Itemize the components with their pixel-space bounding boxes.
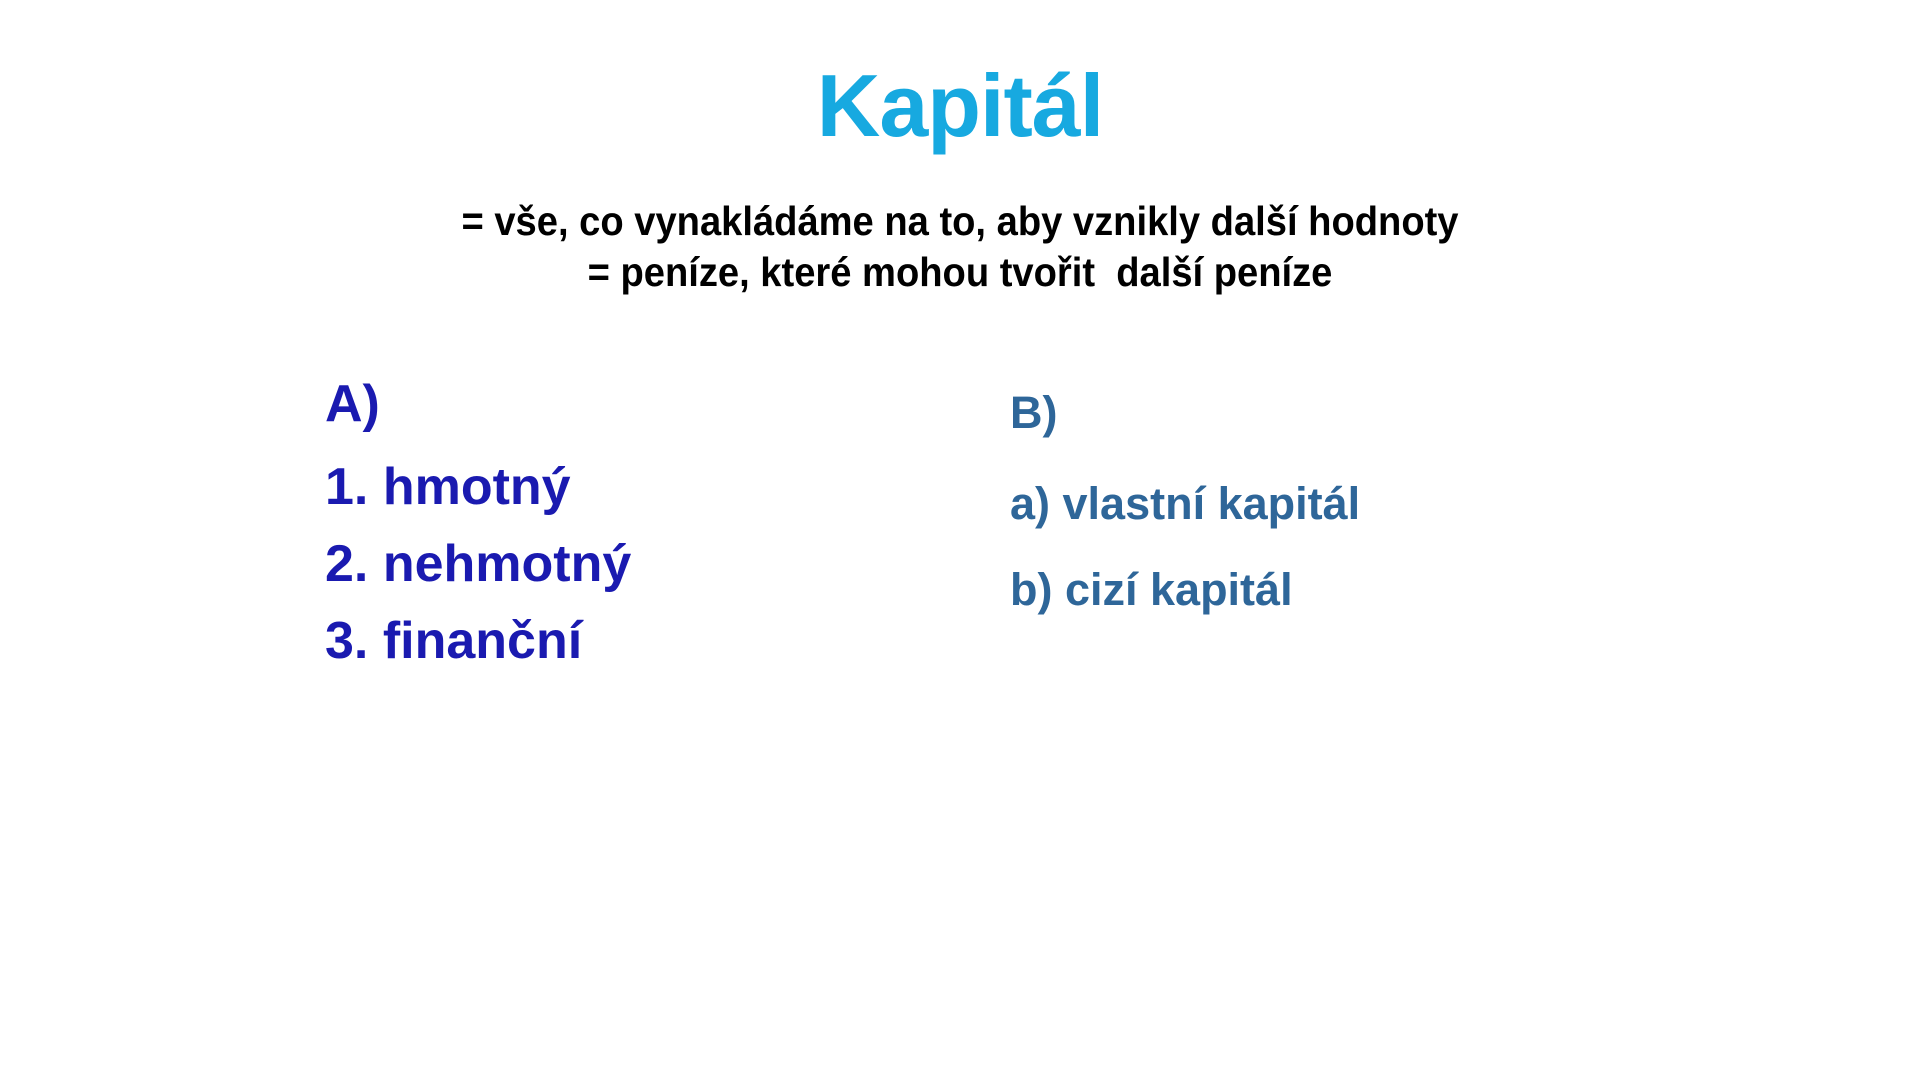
column-a-heading: A) [325,372,885,437]
page-title: Kapitál [817,60,1103,152]
presentation-slide: Kapitál = vše, co vynakládáme na to, aby… [0,0,1920,1080]
subtitle-block: = vše, co vynakládáme na to, aby vznikly… [0,196,1920,299]
subtitle-line-1: = vše, co vynakládáme na to, aby vznikly… [67,196,1853,247]
column-b-heading: B) [1010,384,1630,443]
content-columns: A) 1. hmotný 2. nehmotný 3. finanční B) … [0,372,1920,712]
list-item: 3. finanční [325,609,885,674]
list-item: b) cizí kapitál [1010,561,1630,620]
list-item: 2. nehmotný [325,532,885,597]
subtitle-line-2: = peníze, které mohou tvořit další peníz… [67,247,1853,298]
column-a: A) 1. hmotný 2. nehmotný 3. finanční [325,372,885,686]
title-block: Kapitál [0,60,1920,152]
column-b: B) a) vlastní kapitál b) cizí kapitál [1010,384,1630,648]
list-item: 1. hmotný [325,455,885,520]
list-item: a) vlastní kapitál [1010,475,1630,534]
